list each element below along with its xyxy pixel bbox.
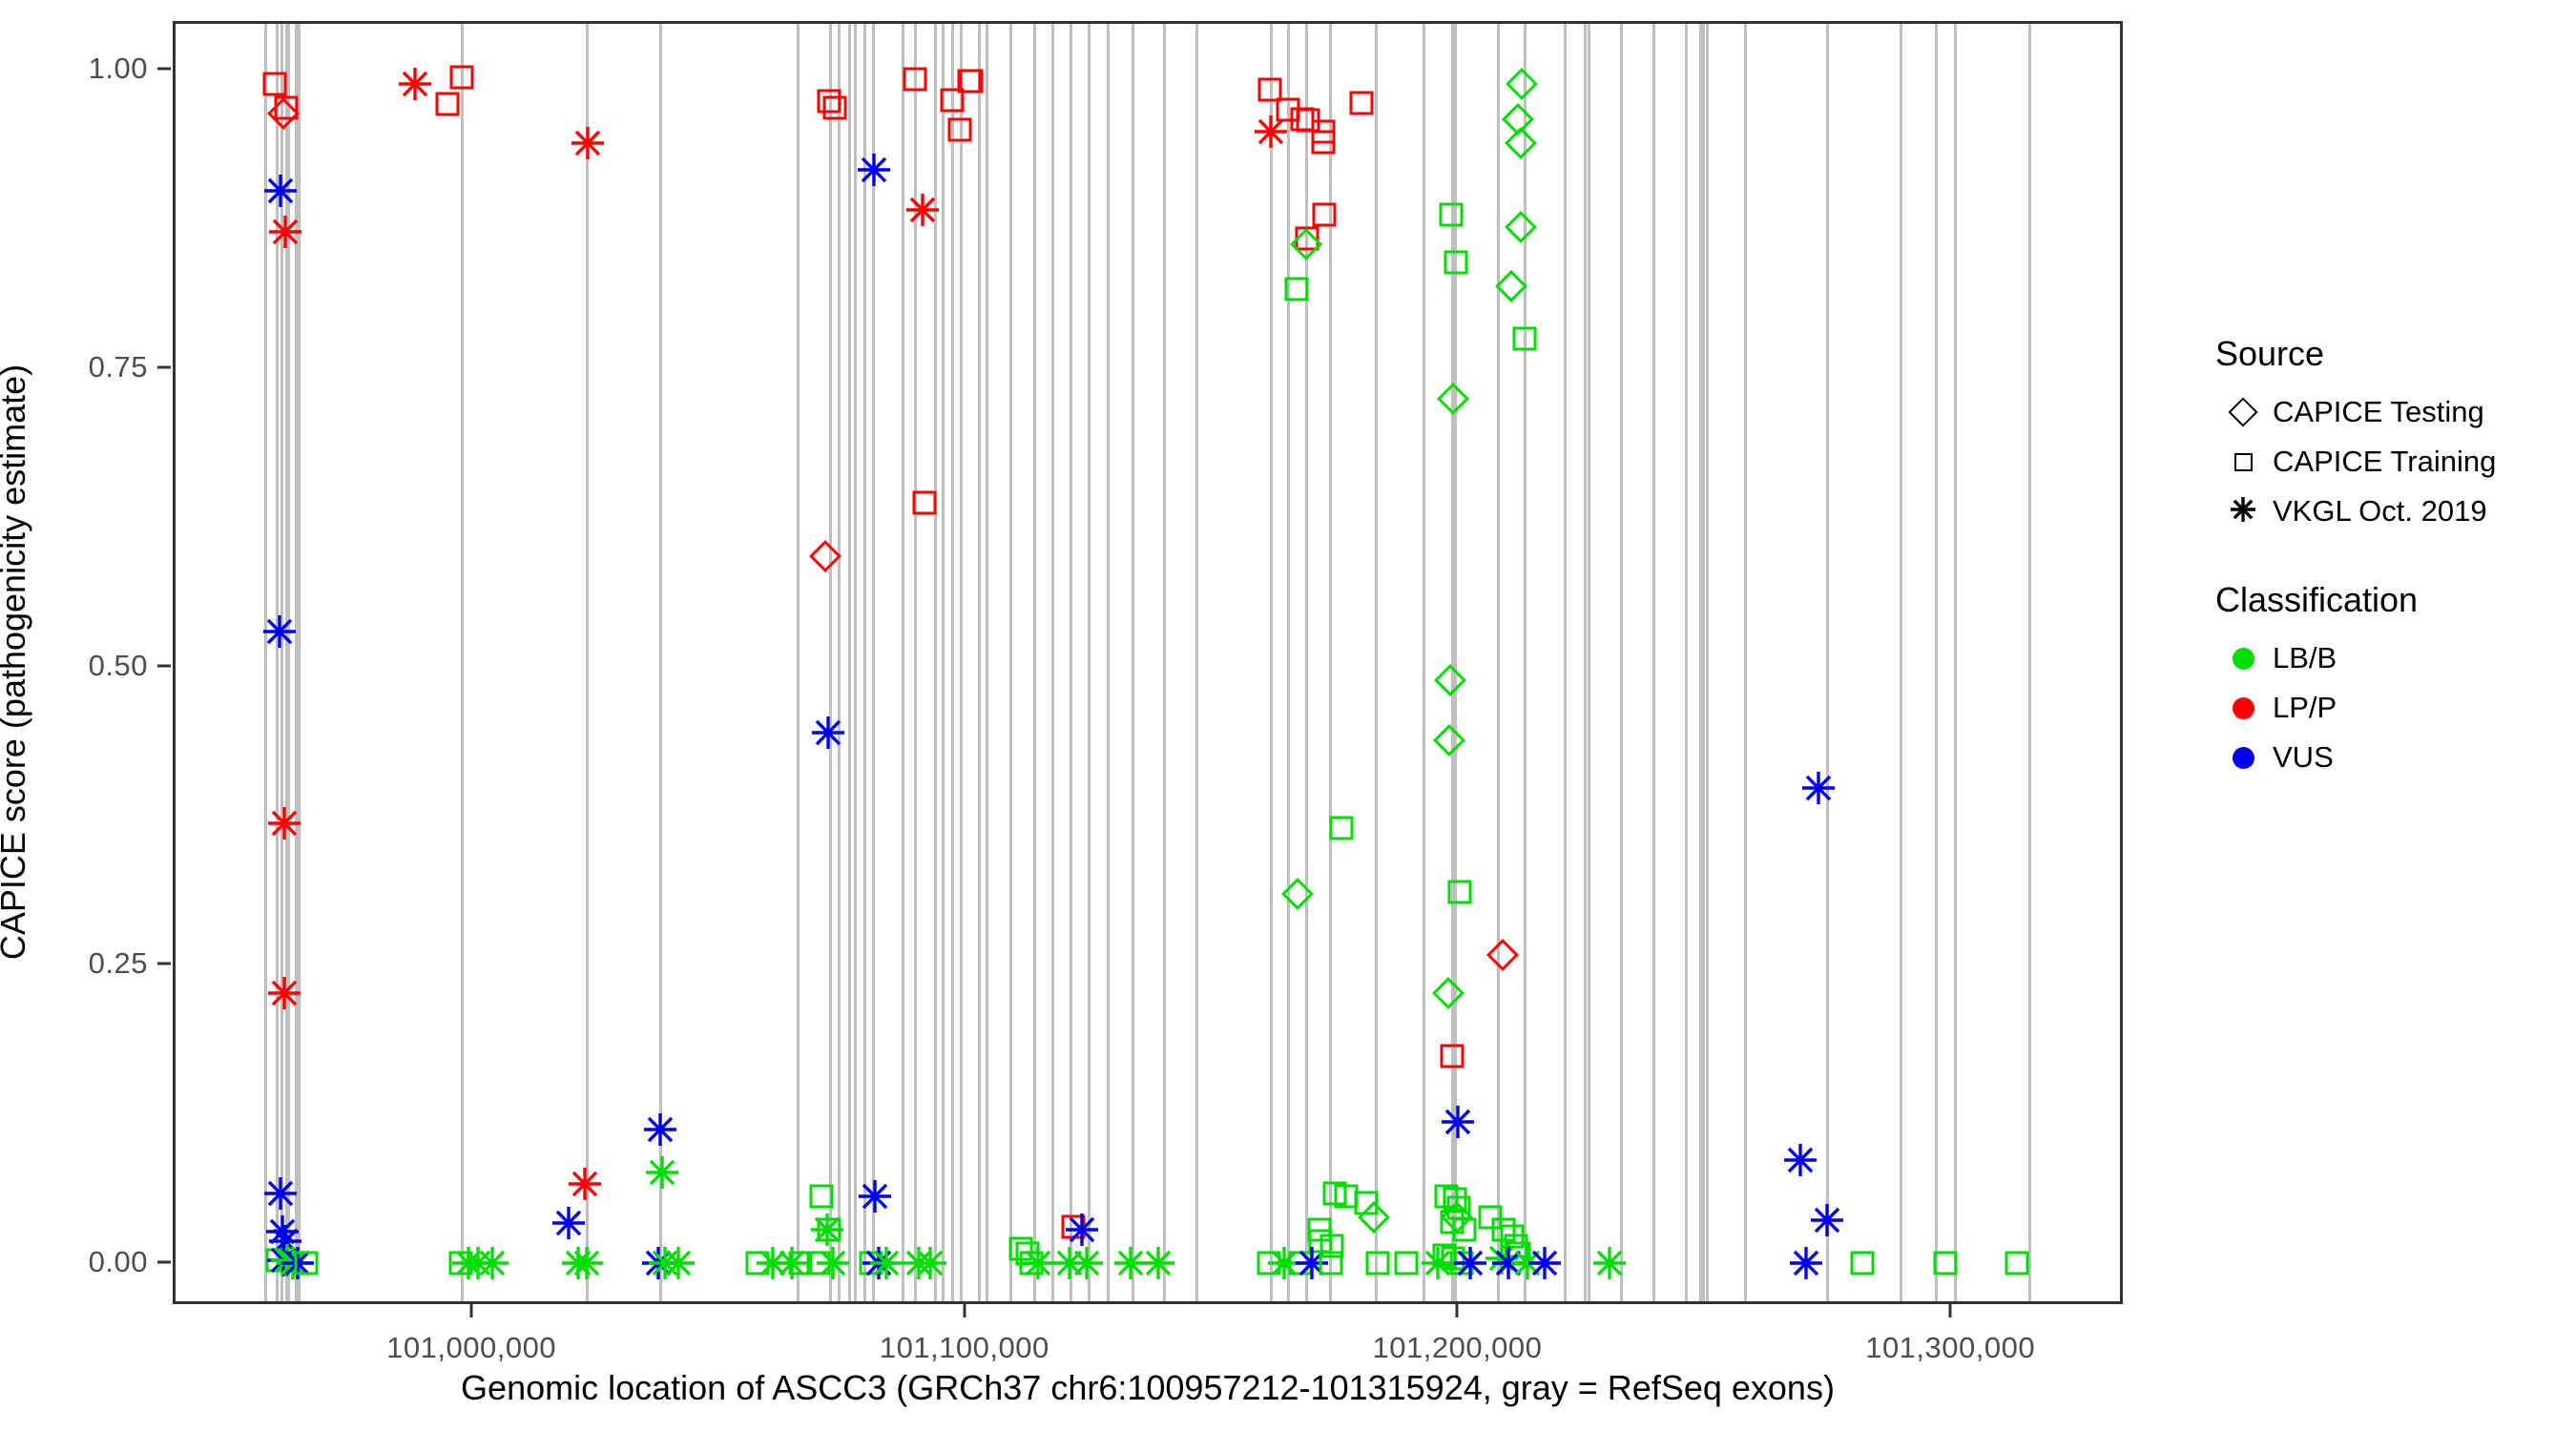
legend-title-classification: Classification [2215,580,2557,620]
exon-line [1132,24,1134,1301]
exon-line [960,24,963,1301]
data-point [1394,1251,1418,1275]
data-point [1441,1045,1465,1068]
circle-icon [2233,648,2254,670]
legend-color-rows: LB/BLP/PVUS [2213,633,2557,782]
exon-line [1702,24,1705,1301]
y-tick-label: 1.00 [89,52,148,86]
data-point [1506,68,1538,100]
data-point [1802,772,1835,804]
legend-key-dot [2213,648,2273,670]
data-point [870,1247,903,1279]
exon-line [1620,24,1623,1301]
exon-line [986,24,988,1301]
legend-shape-rows: CAPICE TestingCAPICE TrainingVKGL Oct. 2… [2213,387,2557,536]
legend-label: CAPICE Testing [2273,395,2484,429]
data-point [817,1247,849,1279]
data-point [1454,1247,1486,1279]
asterisk-icon [2231,497,2255,527]
exon-line [1423,24,1425,1301]
x-tick-label: 101,300,000 [1865,1331,2035,1365]
data-point [1066,1213,1098,1246]
exon-line [1163,24,1166,1301]
legend-key-dot [2213,697,2273,719]
legend-item-classification[interactable]: VUS [2213,733,2557,782]
exon-line [1744,24,1747,1301]
data-point [1513,327,1537,351]
data-point [947,118,971,142]
data-point [264,1177,297,1210]
data-point [1313,203,1337,227]
data-point [1330,817,1354,840]
legend-item-classification[interactable]: LP/P [2213,683,2557,733]
data-point [646,1156,678,1189]
data-point [1850,1251,1874,1275]
x-tick-label: 101,000,000 [386,1331,556,1365]
x-tick-label: 101,100,000 [880,1331,1049,1365]
data-point [1593,1247,1626,1279]
exon-line [797,24,800,1301]
data-point [811,1213,843,1246]
data-point [1439,203,1463,227]
data-point [1486,939,1519,971]
legend: Source CAPICE TestingCAPICE TrainingVKGL… [2213,334,2557,782]
data-point [1495,270,1527,302]
data-point [275,95,299,119]
exon-line [829,24,832,1301]
data-point [476,1247,509,1279]
data-point [263,72,287,95]
data-point [1453,1217,1477,1241]
legend-item-source[interactable]: CAPICE Training [2213,437,2557,487]
legend-label: CAPICE Training [2273,445,2496,479]
y-tick-mark [157,963,171,965]
exon-line [1051,24,1054,1301]
exon-line [264,24,267,1301]
y-tick-mark [157,68,171,71]
circle-icon [2233,747,2254,769]
data-point [914,1247,946,1279]
data-point [1432,977,1465,1009]
exon-line [1070,24,1072,1301]
x-axis-label: Genomic location of ASCC3 (GRCh37 chr6:1… [461,1368,1835,1408]
data-point [1444,251,1467,275]
data-point [906,194,939,226]
data-point [1311,130,1335,154]
data-point [1784,1144,1817,1176]
exon-line [1375,24,1378,1301]
legend-spacer [2213,536,2557,580]
data-point [268,807,301,840]
data-point [1022,1247,1054,1279]
y-tick-label: 0.50 [89,649,148,683]
exon-line [1588,24,1590,1301]
y-tick-mark [157,664,171,667]
exon-line [1287,24,1290,1301]
data-point [2005,1251,2029,1275]
data-point [571,1247,603,1279]
exon-line [1584,24,1587,1301]
data-point [1811,1204,1843,1236]
exon-line [1826,24,1829,1301]
legend-label: VKGL Oct. 2019 [2273,494,2487,529]
square-icon [2234,453,2253,471]
exon-line [1305,24,1308,1301]
exon-line [1033,24,1036,1301]
exon-line [1954,24,1957,1301]
data-point [571,127,604,159]
x-tick-mark [1456,1304,1459,1317]
legend-label: VUS [2273,740,2334,775]
circle-icon [2233,697,2254,719]
data-point [450,66,474,90]
exon-line [872,24,875,1301]
y-axis-label: CAPICE score (pathogenicity estimate) [0,364,33,960]
data-point [1528,1247,1561,1279]
y-tick-label: 0.00 [89,1245,148,1279]
data-point [1422,1247,1454,1279]
x-tick-mark [470,1304,473,1317]
exon-line [1107,24,1110,1301]
data-point [1447,880,1471,903]
exon-line [1009,24,1012,1301]
data-point [268,977,301,1009]
data-point [1790,1247,1822,1279]
data-point [812,716,844,749]
y-tick-label: 0.75 [89,350,148,384]
x-tick-mark [963,1304,966,1317]
exon-line [586,24,589,1301]
plot-panel [173,21,2123,1304]
legend-key-asterisk [2213,497,2273,527]
exon-line [854,24,857,1301]
exon-line [1652,24,1655,1301]
exon-line [951,24,954,1301]
exon-line [461,24,464,1301]
data-point [264,175,297,207]
data-point [1070,1247,1103,1279]
exon-line [1685,24,1688,1301]
legend-label: LP/P [2273,691,2337,725]
exon-line [1497,24,1500,1301]
data-point [960,70,984,93]
data-point [822,95,846,119]
exon-line [1706,24,1709,1301]
exon-line [848,24,851,1301]
exon-line [1564,24,1567,1301]
data-point [1142,1247,1174,1279]
data-point [1505,211,1537,243]
data-point [1365,1251,1389,1275]
data-point [295,1251,319,1275]
data-point [1319,1251,1343,1275]
exon-line [1935,24,1938,1301]
chart-root: CAPICE score (pathogenicity estimate) 0.… [0,0,2576,1431]
data-point [810,1184,834,1208]
exon-line [1195,24,1198,1301]
legend-key-square [2213,453,2273,471]
y-tick-mark [157,365,171,368]
exon-line [659,24,662,1301]
legend-item-source[interactable]: CAPICE Testing [2213,387,2557,437]
plot-area [176,24,2120,1301]
data-point [552,1207,585,1239]
data-point [1434,664,1466,696]
legend-key-diamond [2213,402,2273,423]
data-point [1437,383,1469,415]
y-tick-mark [157,1261,171,1264]
y-tick-label: 0.25 [89,946,148,981]
data-point [644,1113,676,1146]
data-point [269,216,301,248]
exon-line [902,24,904,1301]
data-point [435,92,459,115]
data-point [904,67,927,91]
data-point [858,154,890,186]
legend-item-source[interactable]: VKGL Oct. 2019 [2213,487,2557,536]
legend-key-dot [2213,747,2273,769]
data-point [1350,91,1374,114]
legend-title-source: Source [2215,334,2557,374]
data-point [912,490,936,514]
x-tick-label: 101,200,000 [1373,1331,1543,1365]
data-point [809,540,841,572]
exon-line [1270,24,1273,1301]
data-point [569,1168,601,1200]
data-point [1933,1251,1957,1275]
data-point [399,68,431,100]
data-point [1284,277,1308,301]
exon-line [2028,24,2031,1301]
data-point [1442,1106,1474,1138]
data-point [1433,724,1465,757]
exon-line [1088,24,1091,1301]
legend-label: LB/B [2273,641,2337,675]
exon-line [978,24,981,1301]
data-point [662,1247,695,1279]
legend-item-classification[interactable]: LB/B [2213,633,2557,683]
x-tick-mark [1949,1304,1952,1317]
diamond-icon [2228,397,2257,426]
exon-line [942,24,945,1301]
data-point [859,1180,891,1213]
data-point [263,615,296,648]
exon-line [863,24,866,1301]
exon-line [838,24,841,1301]
exon-line [1900,24,1902,1301]
data-point [1505,127,1537,159]
